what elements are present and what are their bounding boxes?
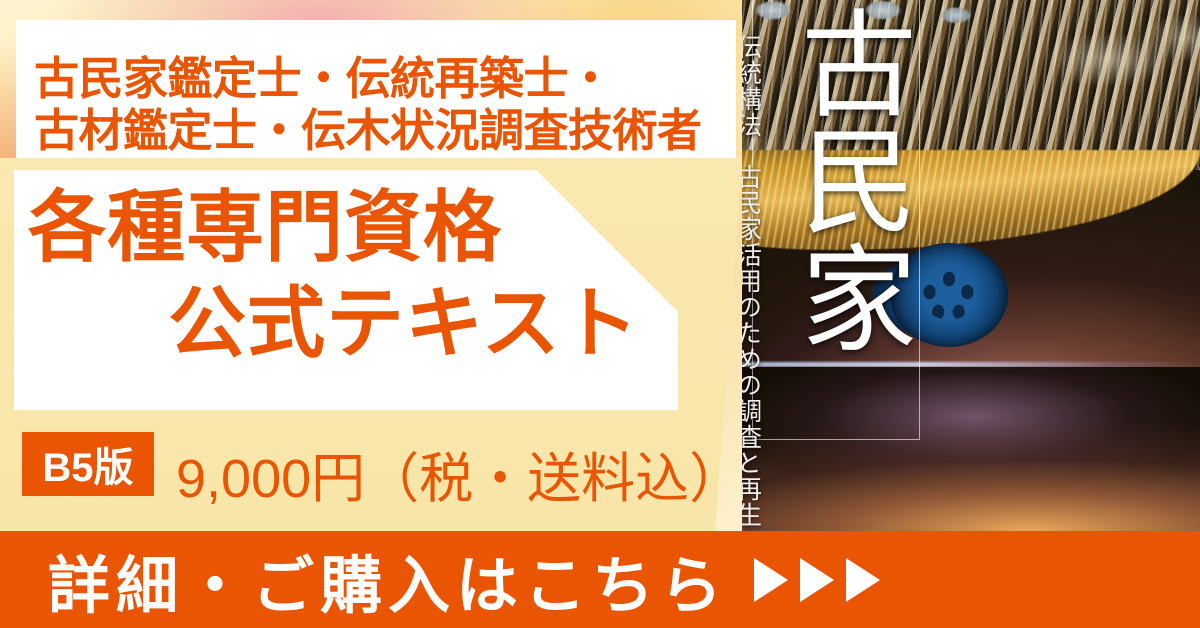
qualifications-line-2: 古材鑑定士・伝木状況調査技術者 [34,94,702,159]
triangle-right-icon [846,558,880,602]
size-badge: B5版 [22,432,154,496]
promo-banner[interactable]: 古民家 伝統構法 古民家活用のための調査と再生の手 古民家鑑定士・伝統再築士・ … [0,0,1200,628]
cta-arrows [754,558,880,602]
price-text: 9,000円（税・送料込） [176,434,743,513]
headline-line-2: 公式テキスト [168,284,640,362]
cta-bar[interactable]: 詳細・ご購入はこちら [0,531,1200,628]
headline-line-1: 各種専門資格 [28,188,502,266]
cta-label: 詳細・ご購入はこちら [48,535,728,625]
triangle-right-icon [754,558,788,602]
size-badge-label: B5版 [42,435,133,493]
qualifications-panel: 古民家鑑定士・伝統再築士・ 古材鑑定士・伝木状況調査技術者 [16,20,736,158]
cover-title-vertical: 古民家 [758,4,914,355]
triangle-right-icon [800,558,834,602]
